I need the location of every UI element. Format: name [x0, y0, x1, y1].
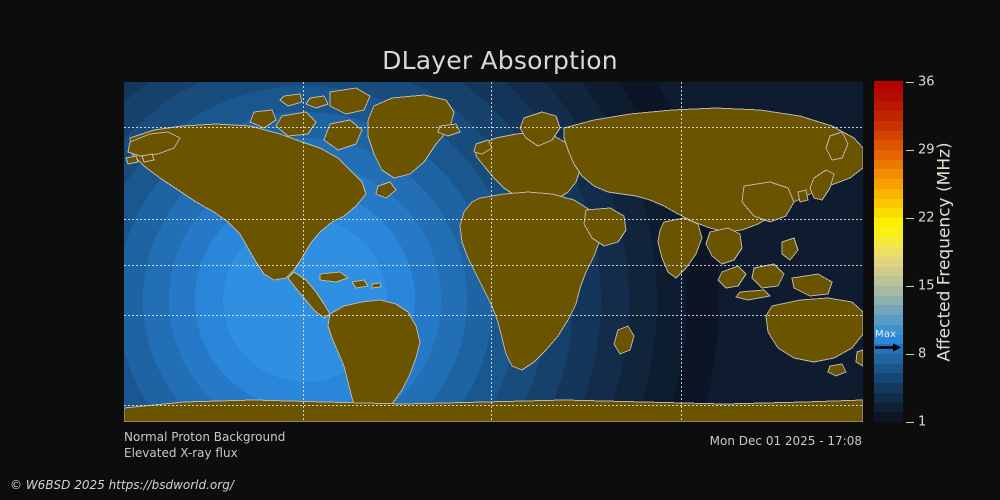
colorbar-axis-label-text: Affected Frequency (MHz) — [935, 142, 955, 361]
colorbar-tick — [906, 286, 914, 287]
page-title: DLayer Absorption — [0, 46, 1000, 75]
colorbar-band — [874, 412, 903, 422]
land-antarctica — [124, 400, 863, 422]
land-aleutian-1 — [126, 156, 138, 164]
colorbar-band — [874, 344, 903, 354]
colorbar-tick — [906, 82, 914, 83]
colorbar-gradient — [874, 82, 903, 422]
map-canvas — [124, 82, 863, 422]
colorbar-band — [874, 179, 903, 189]
colorbar-band — [874, 305, 903, 315]
land-aleutian-2 — [142, 154, 154, 162]
colorbar-band — [874, 140, 903, 150]
colorbar-tick — [906, 354, 914, 355]
colorbar-axis-label: Affected Frequency (MHz) — [934, 82, 956, 422]
colorbar-band — [874, 276, 903, 286]
colorbar-band — [874, 130, 903, 140]
colorbar-band — [874, 295, 903, 305]
status-note-proton: Normal Proton Background — [124, 430, 285, 444]
colorbar-band — [874, 149, 903, 159]
colorbar-band — [874, 266, 903, 276]
colorbar-band — [874, 373, 903, 383]
colorbar-band — [874, 188, 903, 198]
colorbar-tick-label: 22 — [918, 212, 935, 225]
colorbar-band — [874, 208, 903, 218]
status-note-xray: Elevated X-ray flux — [124, 446, 238, 460]
colorbar-band — [874, 159, 903, 169]
colorbar-band — [874, 81, 903, 91]
colorbar-band — [874, 101, 903, 111]
colorbar-band — [874, 315, 903, 325]
colorbar-band — [874, 402, 903, 412]
colorbar-tick-label: 15 — [918, 280, 935, 293]
colorbar-band — [874, 237, 903, 247]
colorbar-band — [874, 227, 903, 237]
colorbar-band — [874, 198, 903, 208]
colorbar-tick — [906, 150, 914, 151]
colorbar-tick-label: 36 — [918, 76, 935, 89]
colorbar-band — [874, 247, 903, 257]
colorbar[interactable] — [874, 82, 903, 422]
colorbar-tick-label: 1 — [918, 416, 926, 429]
land-puerto-rico — [372, 283, 381, 288]
colorbar-band — [874, 392, 903, 402]
colorbar-band — [874, 324, 903, 334]
colorbar-band — [874, 353, 903, 363]
colorbar-tick-label: 8 — [918, 348, 926, 361]
timestamp: Mon Dec 01 2025 - 17:08 — [710, 434, 862, 448]
colorbar-tick-label: 29 — [918, 144, 935, 157]
colorbar-band — [874, 285, 903, 295]
colorbar-band — [874, 111, 903, 121]
colorbar-band — [874, 383, 903, 393]
world-map[interactable] — [124, 82, 863, 422]
colorbar-band — [874, 120, 903, 130]
colorbar-band — [874, 91, 903, 101]
colorbar-band — [874, 169, 903, 179]
colorbar-tick — [906, 218, 914, 219]
dlayer-absorption-page: DLayer Absorption — [0, 0, 1000, 500]
colorbar-band — [874, 363, 903, 373]
colorbar-band — [874, 334, 903, 344]
colorbar-tick — [906, 422, 914, 423]
colorbar-band — [874, 217, 903, 227]
colorbar-band — [874, 256, 903, 266]
copyright-notice: © W6BSD 2025 https://bsdworld.org/ — [10, 478, 234, 492]
land-korea — [798, 190, 808, 202]
